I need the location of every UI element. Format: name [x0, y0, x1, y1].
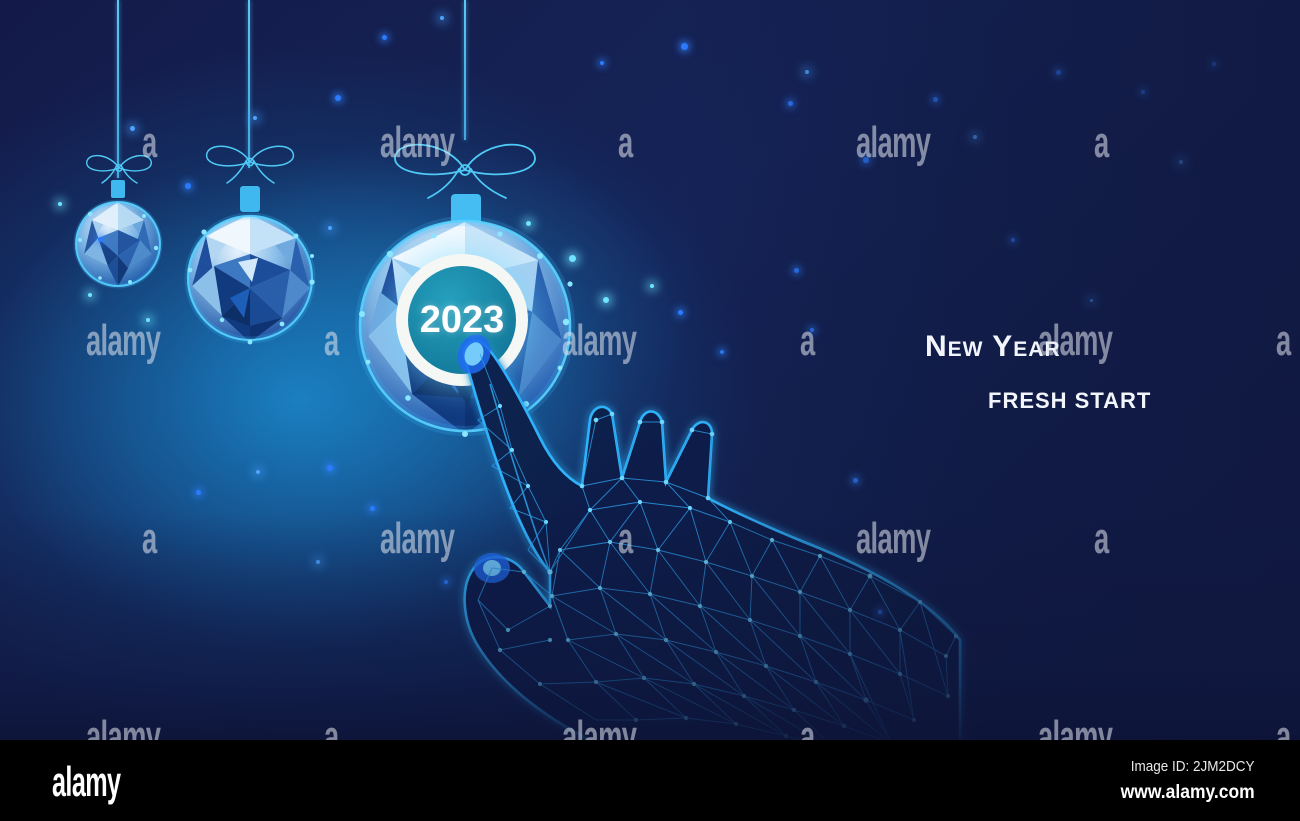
light-particle: [1179, 160, 1183, 164]
light-particle: [1141, 90, 1145, 94]
light-particle: [650, 284, 654, 288]
watermark-alamy-word: alamy: [86, 712, 160, 740]
watermark-alamy-letter: a: [142, 514, 157, 564]
watermark-alamy-word: alamy: [86, 316, 160, 366]
light-particle: [973, 135, 977, 139]
light-particle: [1011, 238, 1015, 242]
alamy-footer-bar: alamy Image ID: 2JM2DCY www.alamy.com: [0, 740, 1300, 821]
watermark-alamy-letter: a: [324, 712, 339, 740]
light-particle: [98, 237, 103, 242]
light-particle: [335, 95, 341, 101]
light-particle: [878, 610, 882, 614]
light-particle: [569, 255, 576, 262]
headline-main: New Year: [925, 330, 1061, 364]
light-particle: [382, 35, 387, 40]
light-particle: [130, 126, 135, 131]
light-particle: [805, 70, 809, 74]
light-particle: [196, 490, 201, 495]
light-particle: [440, 16, 444, 20]
ornament-string-3: [464, 0, 466, 140]
light-particle: [678, 310, 683, 315]
light-particle: [253, 116, 257, 120]
light-particle: [1056, 70, 1061, 75]
light-particle: [788, 101, 793, 106]
light-particle: [1090, 299, 1093, 302]
light-particle: [526, 221, 531, 226]
button-label: 2023: [420, 301, 505, 339]
ornament-small-left: [70, 168, 166, 288]
light-particle: [58, 202, 62, 206]
light-particle: [794, 268, 799, 273]
watermark-alamy-letter: a: [324, 316, 339, 366]
light-particle: [146, 318, 150, 322]
light-particle: [256, 470, 260, 474]
light-particle: [933, 97, 938, 102]
light-particle: [327, 465, 333, 471]
watermark-alamy-letter: a: [1094, 118, 1109, 168]
light-particle: [600, 61, 604, 65]
headline-sub: FRESH START: [988, 388, 1151, 414]
light-particle: [316, 560, 320, 564]
light-particle: [810, 328, 814, 332]
ornament-medium-center: [178, 166, 322, 336]
light-particle: [720, 350, 724, 354]
light-particle: [185, 183, 191, 189]
light-particle: [328, 226, 332, 230]
light-particle: [444, 580, 448, 584]
alamy-url-label: www.alamy.com: [1121, 782, 1255, 804]
light-particle: [603, 297, 609, 303]
light-particle: [370, 506, 375, 511]
alamy-logo: alamy: [52, 758, 120, 806]
light-particle: [88, 293, 92, 297]
image-canvas: 2023: [0, 0, 1300, 821]
light-particle: [1212, 62, 1216, 66]
light-particle: [853, 478, 858, 483]
watermark-alamy-letter: a: [618, 118, 633, 168]
light-particle: [863, 157, 869, 163]
image-id-label: Image ID: 2JM2DCY: [1131, 758, 1255, 775]
artwork-background: 2023: [0, 0, 1300, 740]
light-particle: [681, 43, 688, 50]
low-poly-hand-cursor[interactable]: [400, 310, 1300, 740]
